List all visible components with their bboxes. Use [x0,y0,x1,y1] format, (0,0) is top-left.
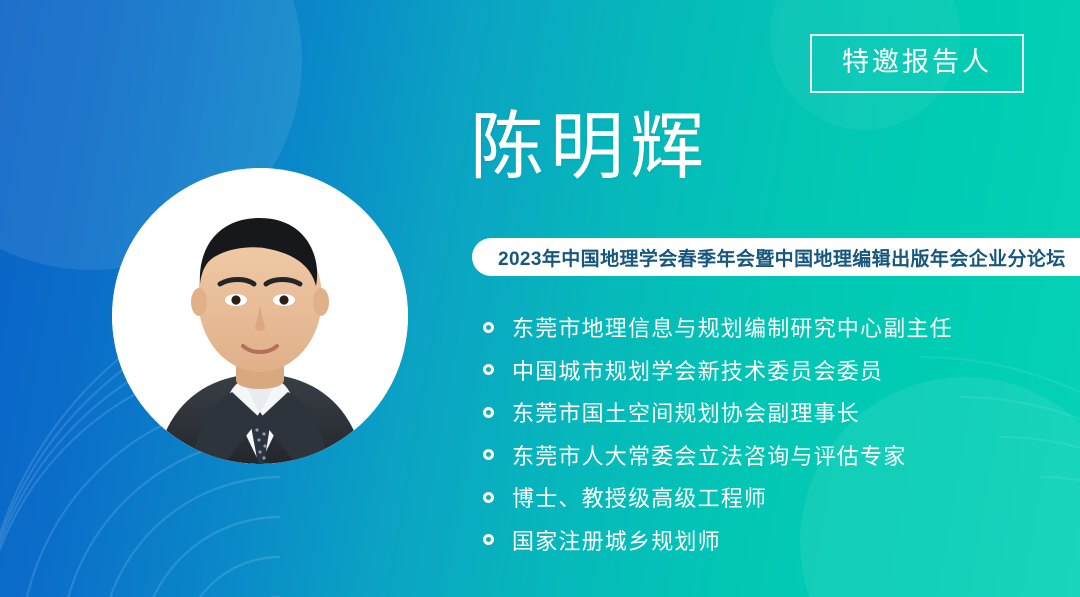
invited-speaker-badge: 特邀报告人 [810,34,1024,93]
credential-label: 博士、教授级高级工程师 [512,481,767,513]
speaker-name: 陈明辉 [470,110,710,184]
credential-label: 国家注册城乡规划师 [512,524,721,556]
event-title-pill: 2023年中国地理学会春季年会暨中国地理编辑出版年会企业分论坛 [472,238,1080,276]
list-item: 东莞市国土空间规划协会副理事长 [483,391,953,434]
list-item: 东莞市人大常委会立法咨询与评估专家 [483,434,953,477]
credential-label: 东莞市地理信息与规划编制研究中心副主任 [512,311,953,343]
ring-bullet-icon [483,322,494,333]
list-item: 博士、教授级高级工程师 [483,476,953,519]
speaker-portrait [112,168,408,464]
credential-label: 东莞市人大常委会立法咨询与评估专家 [512,439,906,471]
list-item: 国家注册城乡规划师 [483,519,953,562]
credential-list: 东莞市地理信息与规划编制研究中心副主任 中国城市规划学会新技术委员会委员 东莞市… [483,306,953,561]
ring-bullet-icon [483,407,494,418]
list-item: 中国城市规划学会新技术委员会委员 [483,349,953,392]
credential-label: 中国城市规划学会新技术委员会委员 [512,354,883,386]
speaker-poster: 特邀报告人 陈明辉 2023年中国地理学会春季年会暨中国地理编辑出版年会企业分论… [0,0,1080,597]
credential-label: 东莞市国土空间规划协会副理事长 [512,396,860,428]
ring-bullet-icon [483,449,494,460]
ring-bullet-icon [483,364,494,375]
list-item: 东莞市地理信息与规划编制研究中心副主任 [483,306,953,349]
speaker-portrait-illustration [112,168,408,464]
ring-bullet-icon [483,492,494,503]
ring-bullet-icon [483,534,494,545]
